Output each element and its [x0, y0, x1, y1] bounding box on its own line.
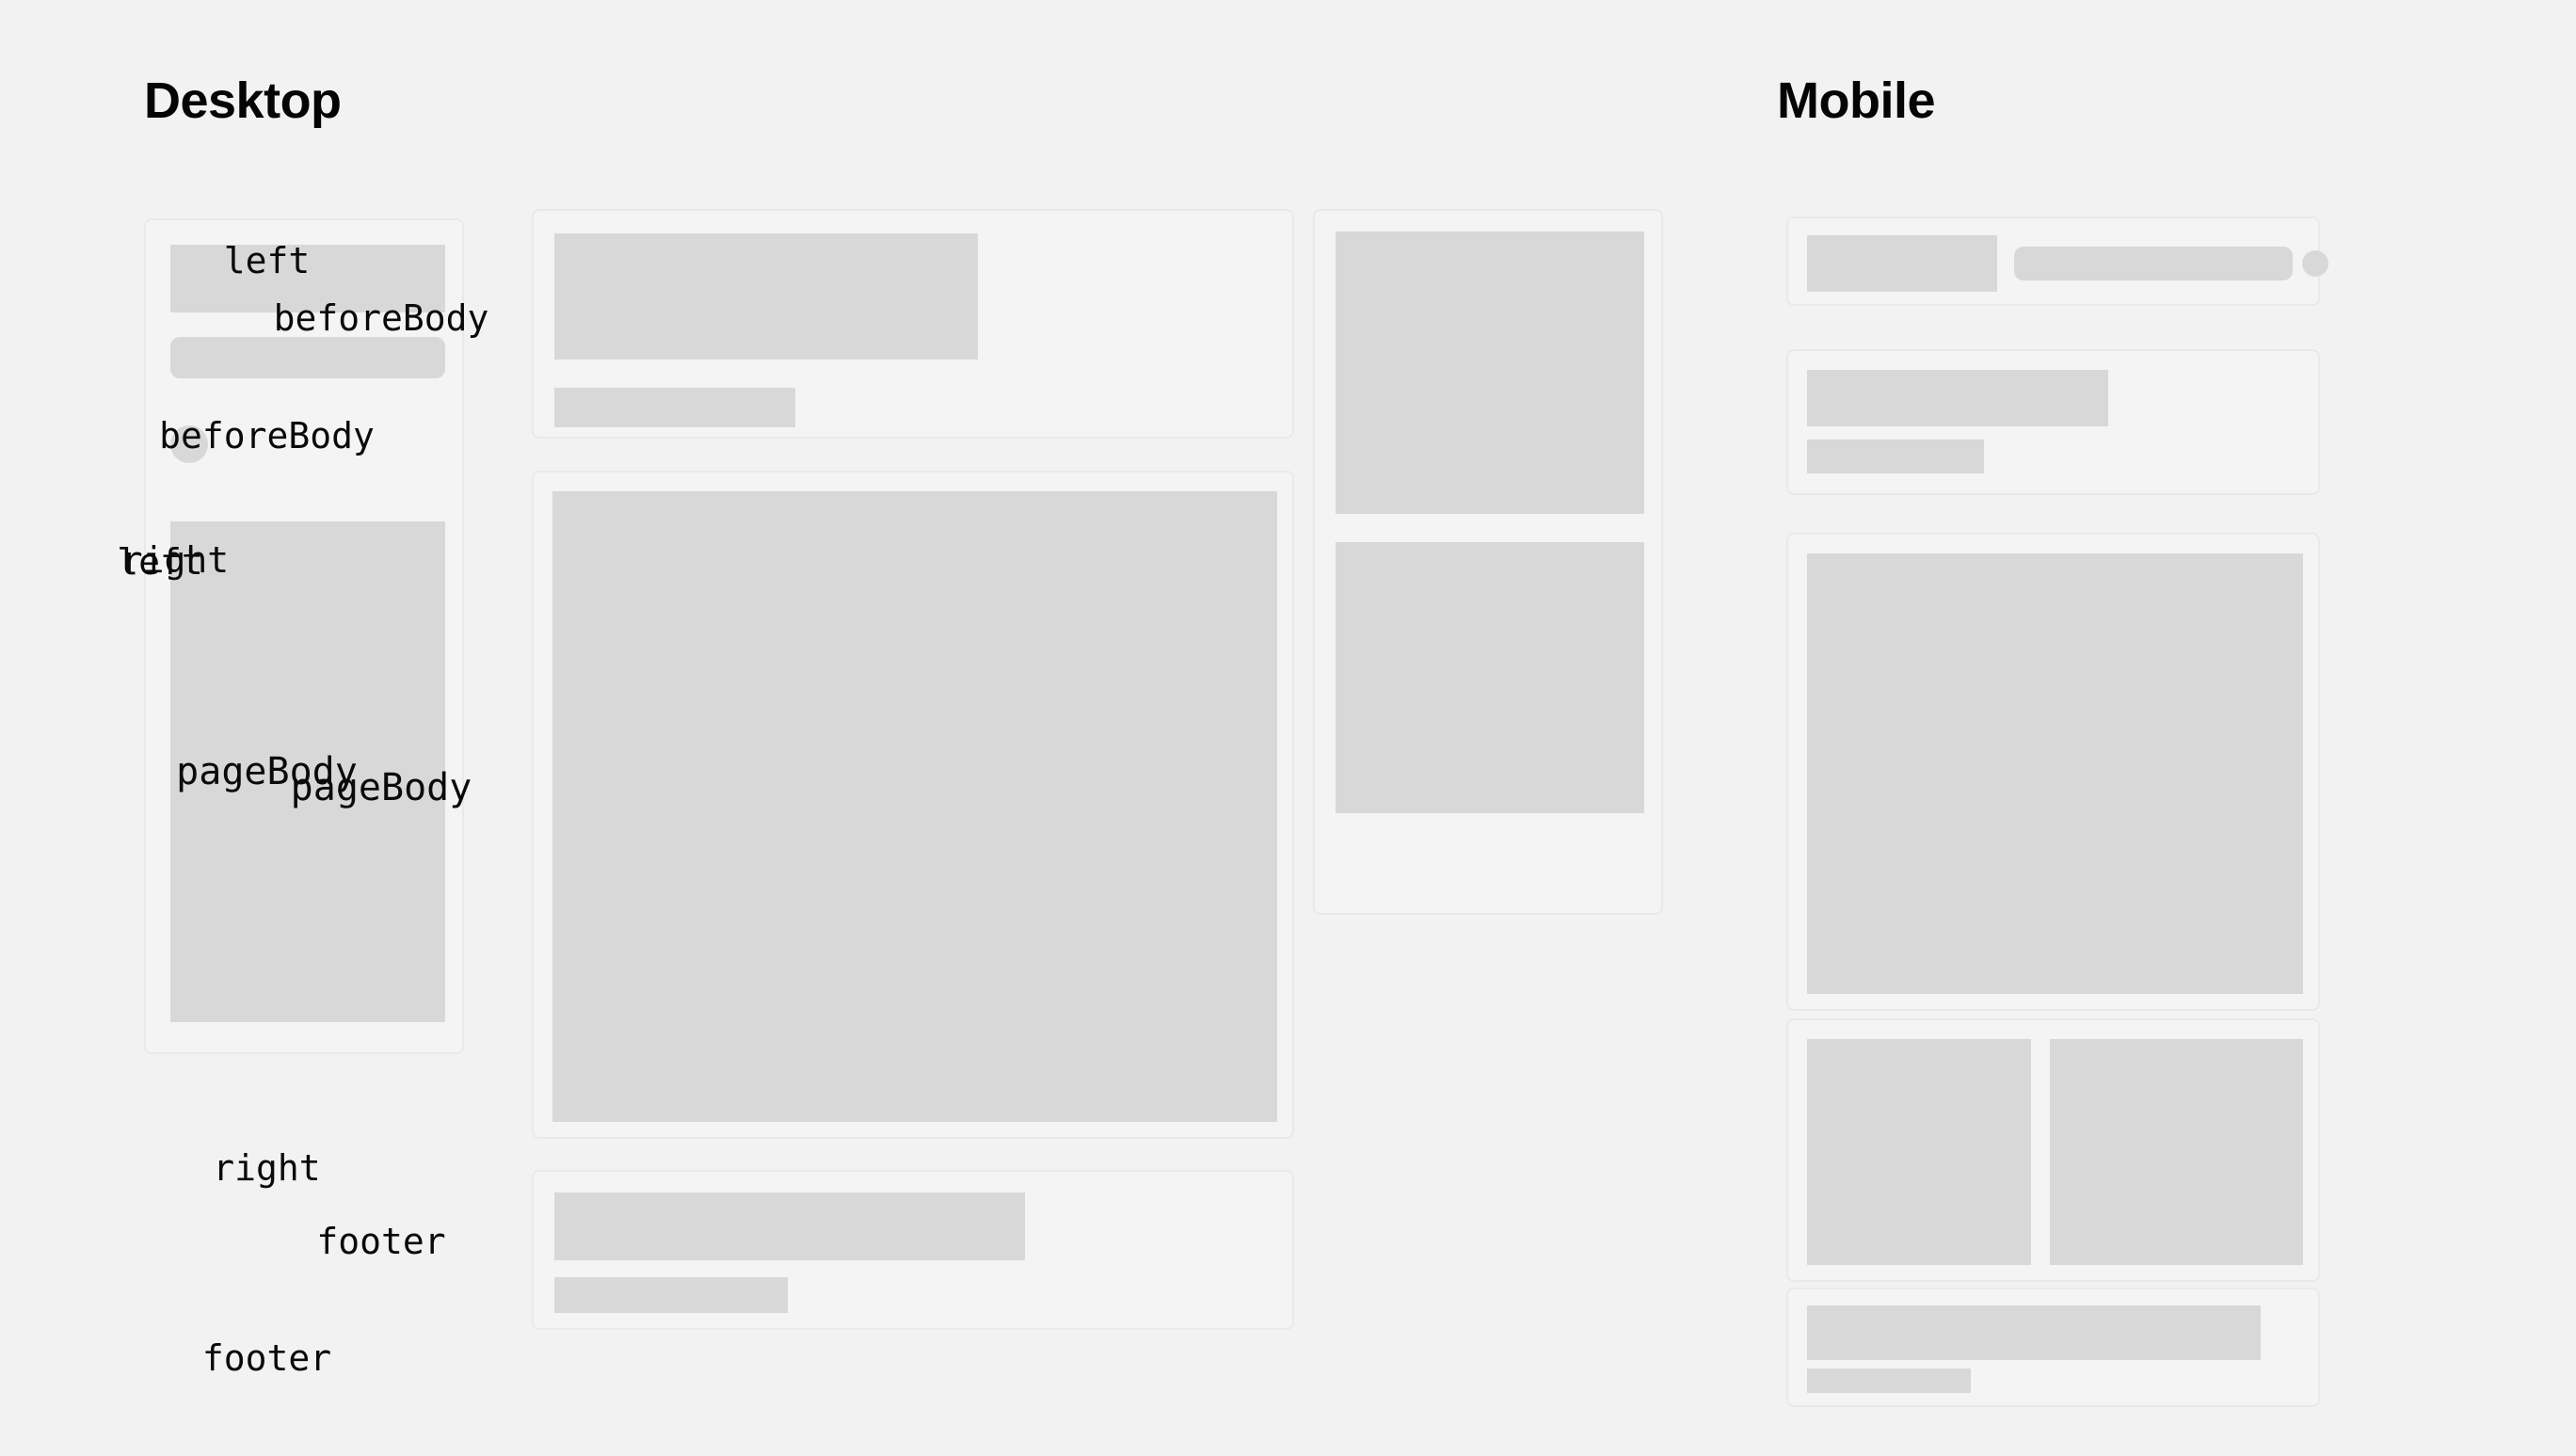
mobile-column-heading: Mobile: [1777, 75, 1935, 126]
wireframe-stage: Desktop Mobile left beforeBody pageBody …: [0, 0, 2576, 1456]
mobile-right-slot-label: right: [0, 1150, 534, 1186]
mobile-footer-primary-bar: [1807, 1305, 2261, 1360]
desktop-footer-secondary-bar: [554, 1277, 788, 1313]
mobile-left-avatar-dot: [2302, 250, 2328, 277]
mobile-left-header-block: [1807, 235, 1997, 292]
desktop-left-nav-block: [170, 337, 445, 378]
mobile-beforebody-primary-block: [1807, 370, 2108, 426]
desktop-pagebody-block: [552, 491, 1277, 1122]
mobile-left-nav-bar: [2014, 247, 2293, 280]
desktop-footer-primary-bar: [554, 1192, 1025, 1260]
mobile-beforebody-secondary-bar: [1807, 440, 1984, 473]
desktop-left-header-block: [170, 245, 445, 312]
desktop-left-avatar-dot: [170, 425, 208, 463]
mobile-beforebody-slot-panel[interactable]: [1786, 349, 2320, 495]
desktop-beforebody-secondary-bar: [554, 388, 795, 427]
mobile-left-slot-panel[interactable]: [1786, 216, 2320, 306]
desktop-footer-slot-panel[interactable]: [532, 1170, 1294, 1330]
desktop-pagebody-slot-panel[interactable]: [532, 471, 1294, 1139]
desktop-right-slot-panel[interactable]: [1313, 209, 1663, 915]
mobile-footer-secondary-bar: [1807, 1368, 1971, 1393]
desktop-beforebody-slot-panel[interactable]: [532, 209, 1294, 439]
desktop-beforebody-primary-block: [554, 233, 978, 360]
desktop-left-content-block: [170, 521, 445, 1022]
mobile-pagebody-slot-panel[interactable]: [1786, 533, 2320, 1011]
desktop-left-slot-panel[interactable]: [144, 218, 464, 1054]
desktop-right-block-bottom: [1336, 542, 1644, 813]
mobile-footer-slot-panel[interactable]: [1786, 1288, 2320, 1407]
mobile-pagebody-block: [1807, 553, 2303, 994]
mobile-right-block-left: [1807, 1039, 2031, 1265]
mobile-footer-slot-label: footer: [0, 1340, 534, 1376]
desktop-column-heading: Desktop: [144, 75, 342, 126]
mobile-right-slot-panel[interactable]: [1786, 1018, 2320, 1282]
mobile-right-block-right: [2050, 1039, 2303, 1265]
desktop-right-block-top: [1336, 232, 1644, 514]
